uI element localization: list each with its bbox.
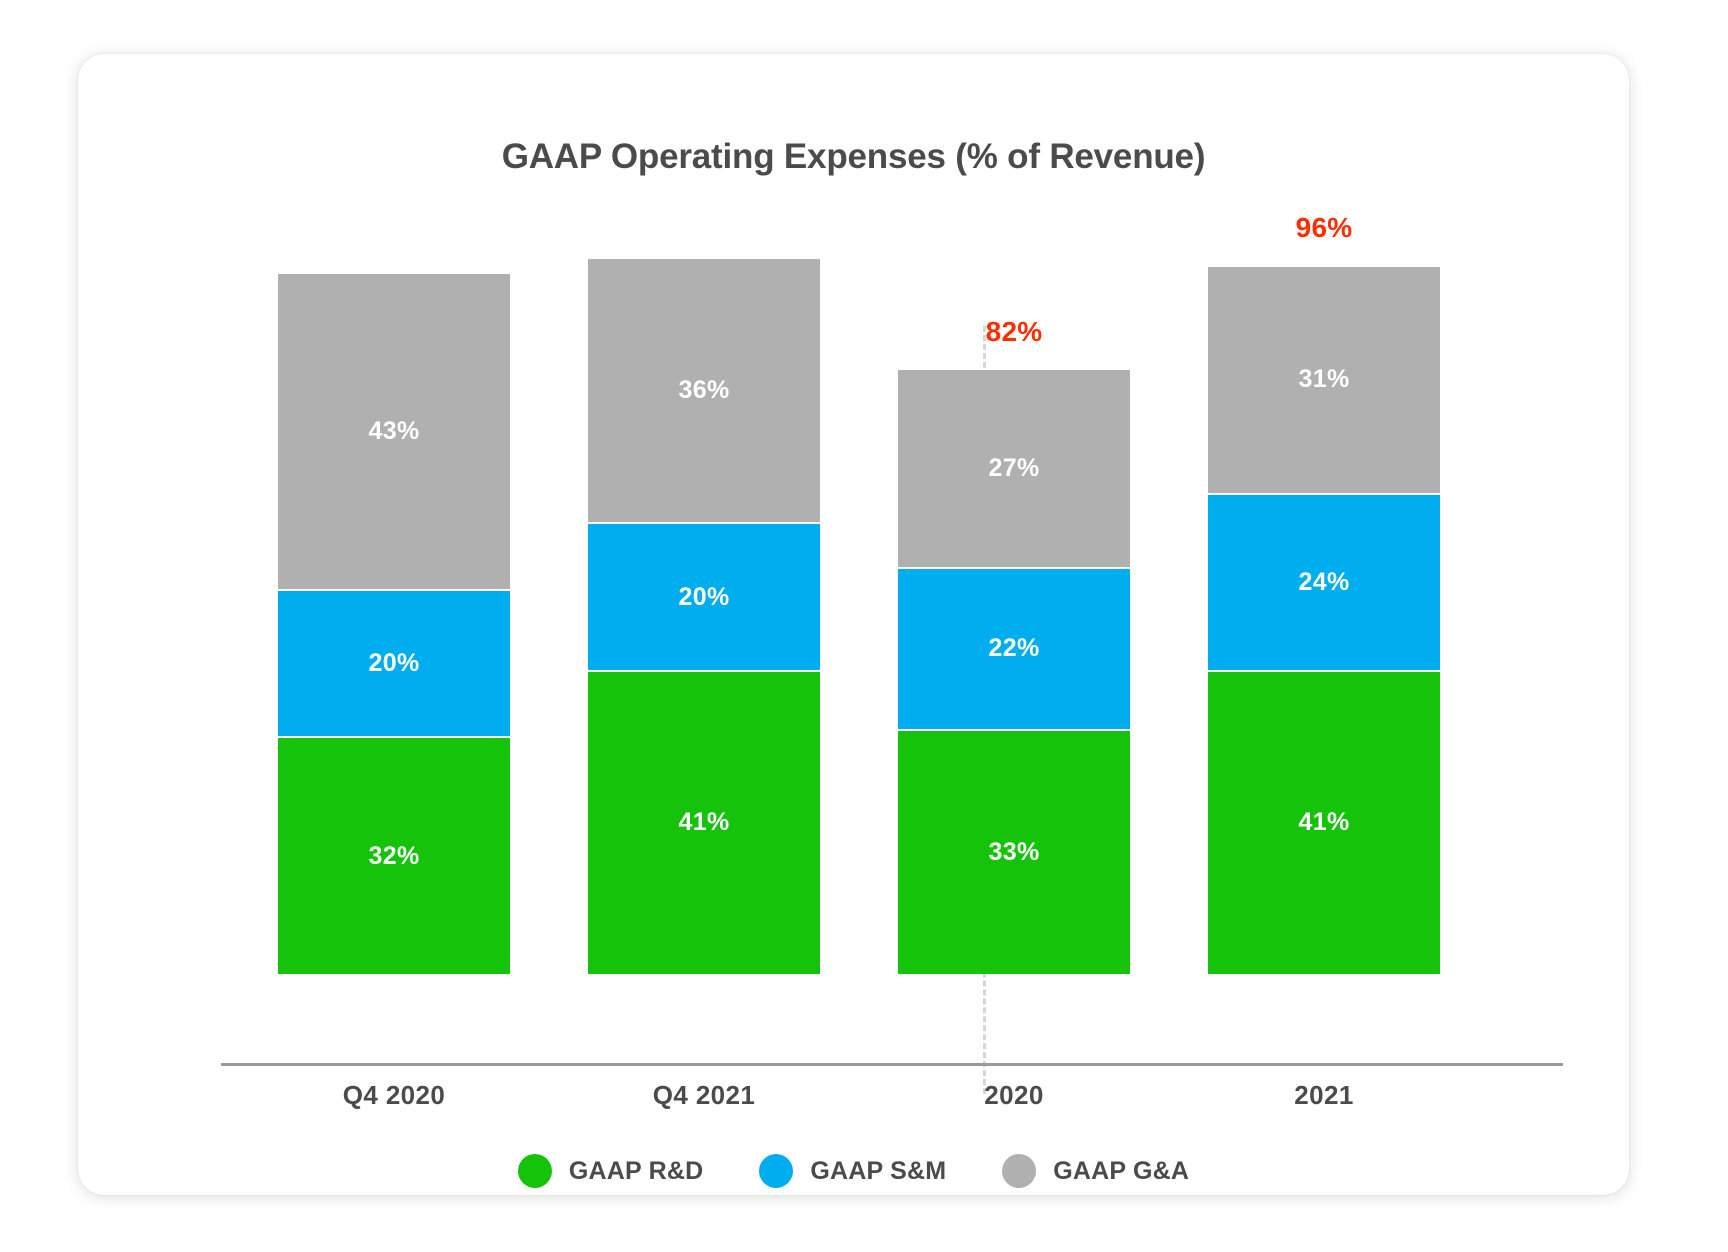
segment-value-label: 20% (369, 651, 420, 676)
bar-group[interactable]: 31%24%41%96% (1208, 174, 1440, 974)
segment-value-label: 43% (369, 419, 420, 444)
legend-label: GAAP S&M (810, 1157, 946, 1186)
plot-area: 43%20%32%36%20%41%27%22%33%82%31%24%41%9… (136, 174, 1556, 974)
bar-stack: 27%22%33% (898, 370, 1130, 974)
legend-label: GAAP R&D (569, 1157, 704, 1186)
bar-stack: 43%20%32% (278, 274, 510, 974)
segment-value-label: 41% (1299, 810, 1350, 835)
legend-swatch-ga-icon (1002, 1154, 1036, 1188)
chart-title: GAAP Operating Expenses (% of Revenue) (78, 137, 1629, 177)
legend-swatch-rd-icon (518, 1154, 552, 1188)
segment-value-label: 41% (679, 810, 730, 835)
bar-segment-ga[interactable]: 27% (898, 370, 1130, 569)
bar-segment-sm[interactable]: 24% (1208, 495, 1440, 672)
legend-item-rd[interactable]: GAAP R&D (518, 1154, 704, 1188)
bar-segment-ga[interactable]: 36% (588, 259, 820, 524)
bar-total-label: 82% (898, 316, 1130, 348)
bar-segment-rd[interactable]: 41% (1208, 672, 1440, 974)
bar-stack: 31%24%41% (1208, 266, 1440, 974)
segment-value-label: 20% (679, 585, 730, 610)
segment-value-label: 27% (989, 456, 1040, 481)
x-axis-line (221, 1063, 1563, 1066)
bar-segment-rd[interactable]: 41% (588, 672, 820, 974)
segment-value-label: 22% (989, 636, 1040, 661)
bar-group[interactable]: 27%22%33%82% (898, 174, 1130, 974)
bar-segment-rd[interactable]: 33% (898, 731, 1130, 974)
bar-segment-sm[interactable]: 22% (898, 569, 1130, 731)
x-axis-label-q4-2020: Q4 2020 (278, 1080, 510, 1111)
x-axis-label-q4-2021: Q4 2021 (588, 1080, 820, 1111)
bar-group[interactable]: 43%20%32% (278, 174, 510, 974)
bar-segment-sm[interactable]: 20% (588, 524, 820, 671)
bar-stack: 36%20%41% (588, 259, 820, 974)
slide-canvas: GAAP Operating Expenses (% of Revenue) 4… (0, 0, 1728, 1252)
bar-segment-sm[interactable]: 20% (278, 591, 510, 738)
bar-group[interactable]: 36%20%41% (588, 174, 820, 974)
segment-value-label: 31% (1299, 367, 1350, 392)
segment-value-label: 24% (1299, 570, 1350, 595)
legend-label: GAAP G&A (1053, 1157, 1189, 1186)
bar-segment-rd[interactable]: 32% (278, 738, 510, 974)
chart-legend: GAAP R&DGAAP S&MGAAP G&A (78, 1154, 1629, 1188)
chart-card: GAAP Operating Expenses (% of Revenue) 4… (78, 54, 1629, 1195)
legend-swatch-sm-icon (759, 1154, 793, 1188)
bar-segment-ga[interactable]: 31% (1208, 267, 1440, 495)
x-axis-label-2020: 2020 (898, 1080, 1130, 1111)
segment-value-label: 32% (369, 844, 420, 869)
bar-total-label: 96% (1208, 212, 1440, 244)
segment-value-label: 33% (989, 840, 1040, 865)
segment-value-label: 36% (679, 378, 730, 403)
bar-segment-ga[interactable]: 43% (278, 274, 510, 591)
x-axis-label-2021: 2021 (1208, 1080, 1440, 1111)
legend-item-ga[interactable]: GAAP G&A (1002, 1154, 1189, 1188)
legend-item-sm[interactable]: GAAP S&M (759, 1154, 946, 1188)
